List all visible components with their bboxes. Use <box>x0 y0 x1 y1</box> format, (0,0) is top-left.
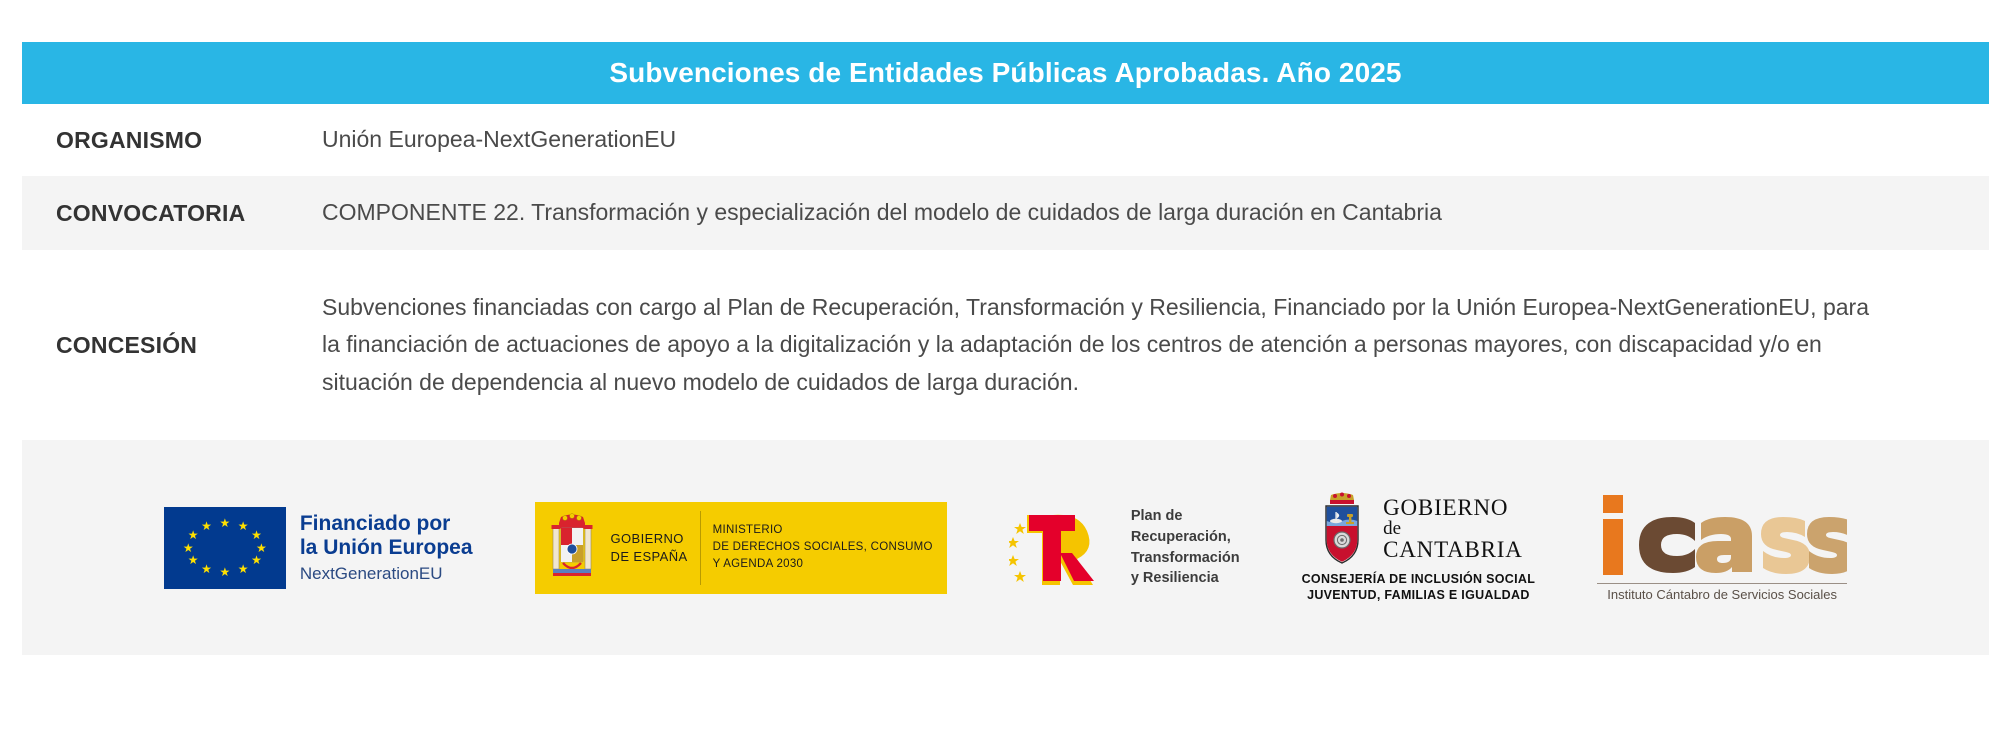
eu-star-icon: ★ <box>183 542 194 554</box>
prtr-line-2: Recuperación, <box>1131 527 1240 548</box>
eu-star-icon: ★ <box>256 542 267 554</box>
cantabria-word-3: CANTABRIA <box>1383 538 1523 561</box>
cantabria-word-1: GOBIERNO <box>1383 496 1523 519</box>
info-table: ORGANISMO Unión Europea-NextGenerationEU… <box>22 104 1989 440</box>
cantabria-wordmark: GOBIERNO de CANTABRIA <box>1383 496 1523 562</box>
gobierno-cantabria-logo: GOBIERNO de CANTABRIA CONSEJERÍA DE INCL… <box>1302 492 1536 604</box>
cantabria-logo-top: GOBIERNO de CANTABRIA <box>1314 492 1523 566</box>
logo-divider <box>700 511 701 585</box>
ministerio-line-1: MINISTERIO <box>713 522 933 539</box>
eu-line-1: Financiado por <box>300 512 473 536</box>
prtr-line-1: Plan de <box>1131 506 1240 527</box>
icass-wordmark-icon <box>1597 493 1847 577</box>
cantabria-sub-line-1: CONSEJERÍA DE INCLUSIÓN SOCIAL <box>1302 571 1536 587</box>
row-label-concesion: CONCESIÓN <box>22 332 322 359</box>
plan-recuperacion-logo: Plan de Recuperación, Transformación y R… <box>1009 506 1240 588</box>
cantabria-word-2: de <box>1383 519 1523 538</box>
gobierno-espana-logo: GOBIERNO DE ESPAÑA MINISTERIO DE DERECHO… <box>535 502 947 594</box>
top-margin <box>0 0 2011 42</box>
ministerio-line-2: DE DERECHOS SOCIALES, CONSUMO <box>713 539 933 556</box>
eu-flag-icon: ★★★★★★★★★★★★ <box>164 507 286 589</box>
cantabria-shield-icon <box>1314 492 1370 566</box>
eu-star-icon: ★ <box>238 520 249 532</box>
row-label-convocatoria: CONVOCATORIA <box>22 200 322 227</box>
table-row: CONVOCATORIA COMPONENTE 22. Transformaci… <box>22 176 1989 250</box>
page-title: Subvenciones de Entidades Públicas Aprob… <box>609 57 1401 89</box>
eu-line-3: NextGenerationEU <box>300 564 473 584</box>
eu-star-icon: ★ <box>238 563 249 575</box>
eu-star-icon: ★ <box>188 554 199 566</box>
eu-star-icon: ★ <box>201 520 212 532</box>
document-page: Subvenciones de Entidades Públicas Aprob… <box>0 0 2011 740</box>
logo-strip: ★★★★★★★★★★★★ Financiado por la Unión Eur… <box>22 440 1989 655</box>
ministerio-line-3: Y AGENDA 2030 <box>713 556 933 573</box>
prtr-line-4: y Resiliencia <box>1131 568 1240 589</box>
row-label-organismo: ORGANISMO <box>22 127 322 154</box>
row-value-convocatoria: COMPONENTE 22. Transformación y especial… <box>322 194 1989 231</box>
icass-subtitle: Instituto Cántabro de Servicios Sociales <box>1597 583 1847 602</box>
cantabria-sub-line-2: JUVENTUD, FAMILIAS E IGUALDAD <box>1302 587 1536 603</box>
eu-star-icon: ★ <box>201 563 212 575</box>
cantabria-subtitle: CONSEJERÍA DE INCLUSIÓN SOCIAL JUVENTUD,… <box>1302 571 1536 604</box>
prtr-logo-text: Plan de Recuperación, Transformación y R… <box>1131 506 1240 588</box>
eu-star-icon: ★ <box>219 566 230 578</box>
prtr-mark-icon <box>1009 507 1119 589</box>
table-row: CONCESIÓN Subvenciones financiadas con c… <box>22 250 1989 440</box>
table-row: ORGANISMO Unión Europea-NextGenerationEU <box>22 104 1989 176</box>
eu-star-icon: ★ <box>219 517 230 529</box>
row-value-organismo: Unión Europea-NextGenerationEU <box>322 121 1989 158</box>
page-banner: Subvenciones de Entidades Públicas Aprob… <box>22 42 1989 104</box>
eu-funding-logo: ★★★★★★★★★★★★ Financiado por la Unión Eur… <box>164 507 473 589</box>
gobierno-line-1: GOBIERNO <box>611 530 688 548</box>
eu-star-icon: ★ <box>251 554 262 566</box>
spain-coat-of-arms-icon <box>545 511 599 585</box>
eu-line-2: la Unión Europea <box>300 536 473 560</box>
gobierno-line-2: DE ESPAÑA <box>611 548 688 566</box>
icass-logo: Instituto Cántabro de Servicios Sociales <box>1597 493 1847 602</box>
eu-star-icon: ★ <box>251 529 262 541</box>
gobierno-espana-text: GOBIERNO DE ESPAÑA <box>611 530 688 565</box>
prtr-line-3: Transformación <box>1131 548 1240 569</box>
ministerio-text: MINISTERIO DE DERECHOS SOCIALES, CONSUMO… <box>713 522 933 572</box>
eu-star-icon: ★ <box>188 529 199 541</box>
row-value-concesion: Subvenciones financiadas con cargo al Pl… <box>322 289 1932 401</box>
eu-logo-text: Financiado por la Unión Europea NextGene… <box>300 512 473 584</box>
